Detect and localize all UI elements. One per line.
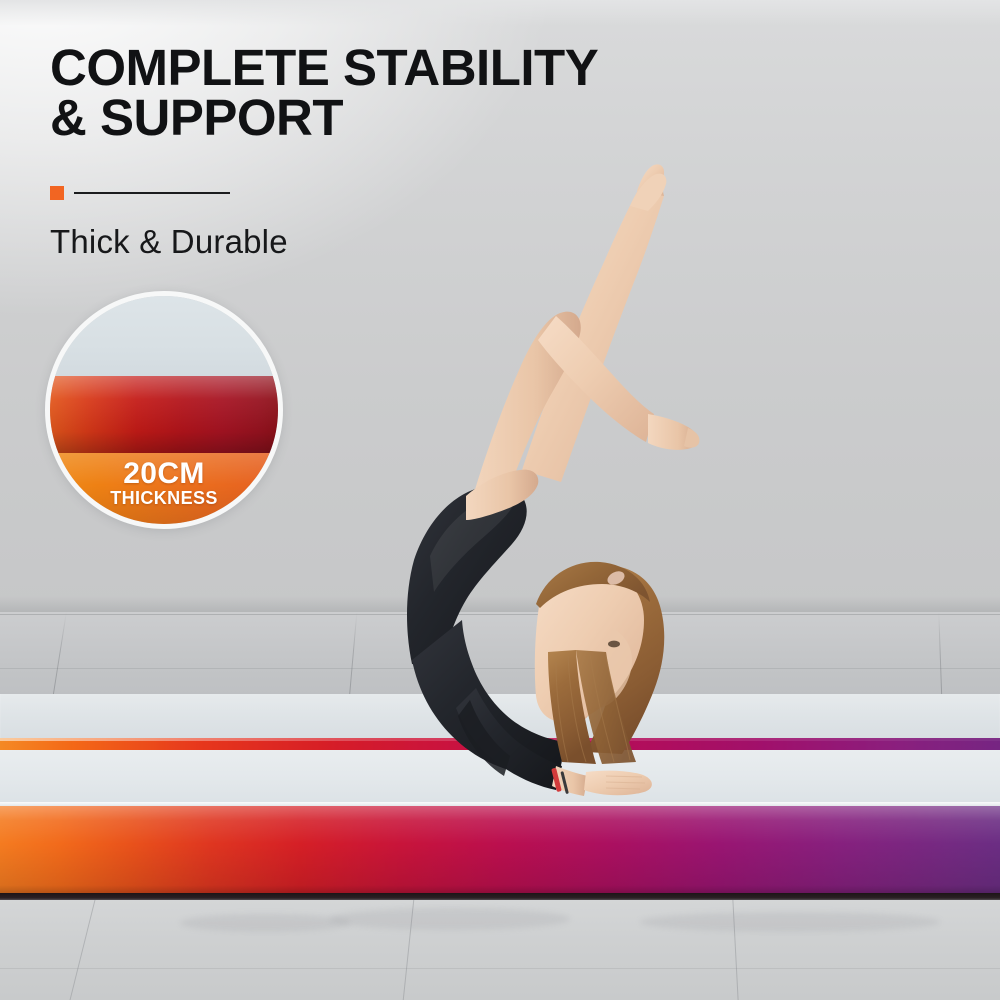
- headline-line-1: COMPLETE STABILITY: [50, 39, 598, 96]
- divider: [50, 186, 230, 200]
- product-banner: COMPLETE STABILITY & SUPPORT Thick & Dur…: [0, 0, 1000, 1000]
- badge-caption: 20CM THICKNESS: [50, 459, 278, 508]
- badge-value: 20CM: [50, 459, 278, 490]
- badge-label: THICKNESS: [50, 489, 278, 508]
- page-title: COMPLETE STABILITY & SUPPORT: [50, 43, 750, 143]
- divider-line: [74, 192, 230, 194]
- headline-line-2: & SUPPORT: [50, 93, 750, 143]
- badge-roll-highlight: [50, 376, 278, 454]
- divider-accent-square: [50, 186, 64, 200]
- thickness-badge: 20CM THICKNESS: [45, 291, 283, 529]
- subheadline: Thick & Durable: [50, 223, 288, 261]
- gymnast-eye: [608, 641, 620, 648]
- badge-background-top: [50, 296, 278, 376]
